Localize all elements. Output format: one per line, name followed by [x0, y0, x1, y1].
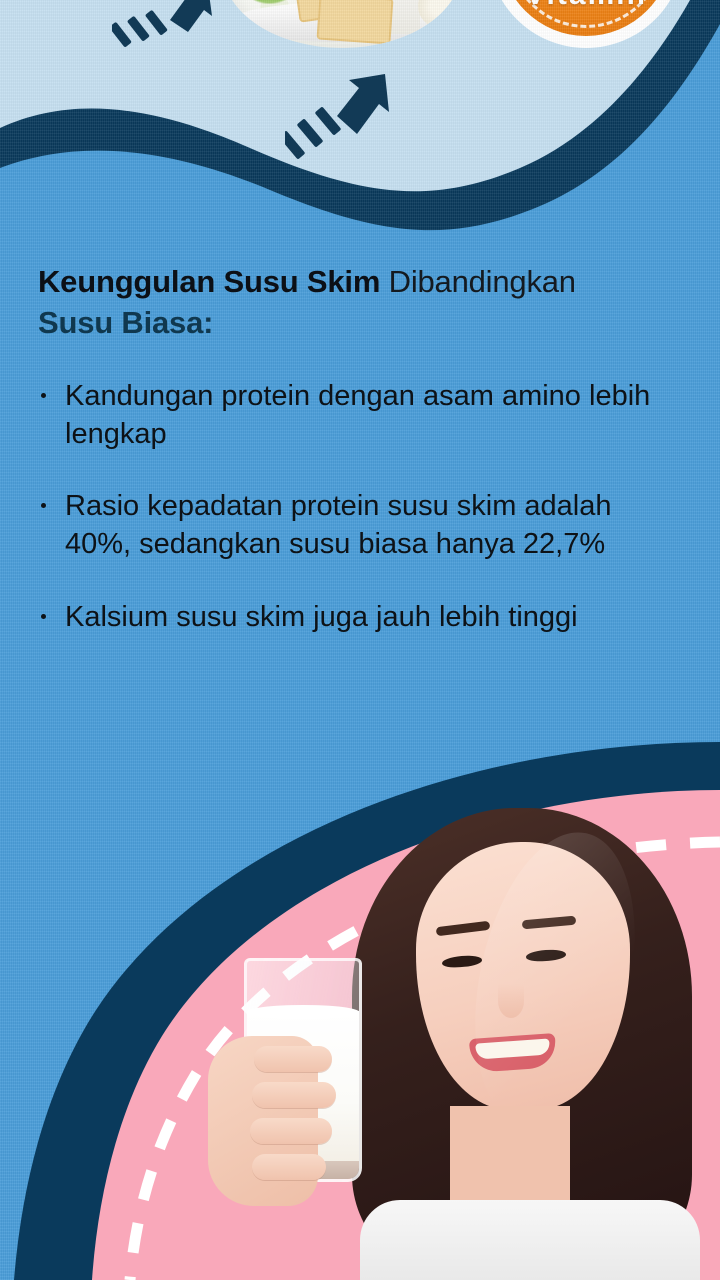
finger-shape — [254, 1046, 332, 1072]
poster-canvas: Vitamin Keunggulan Susu Skim Dibandingka… — [0, 0, 720, 1280]
finger-shape — [252, 1154, 326, 1180]
finger-shape — [252, 1082, 336, 1108]
hand-shape — [208, 1036, 318, 1206]
finger-shape — [250, 1118, 332, 1144]
milk-glass-icon — [208, 958, 398, 1208]
shirt-shape — [360, 1200, 700, 1280]
milk-surface — [247, 1005, 359, 1019]
